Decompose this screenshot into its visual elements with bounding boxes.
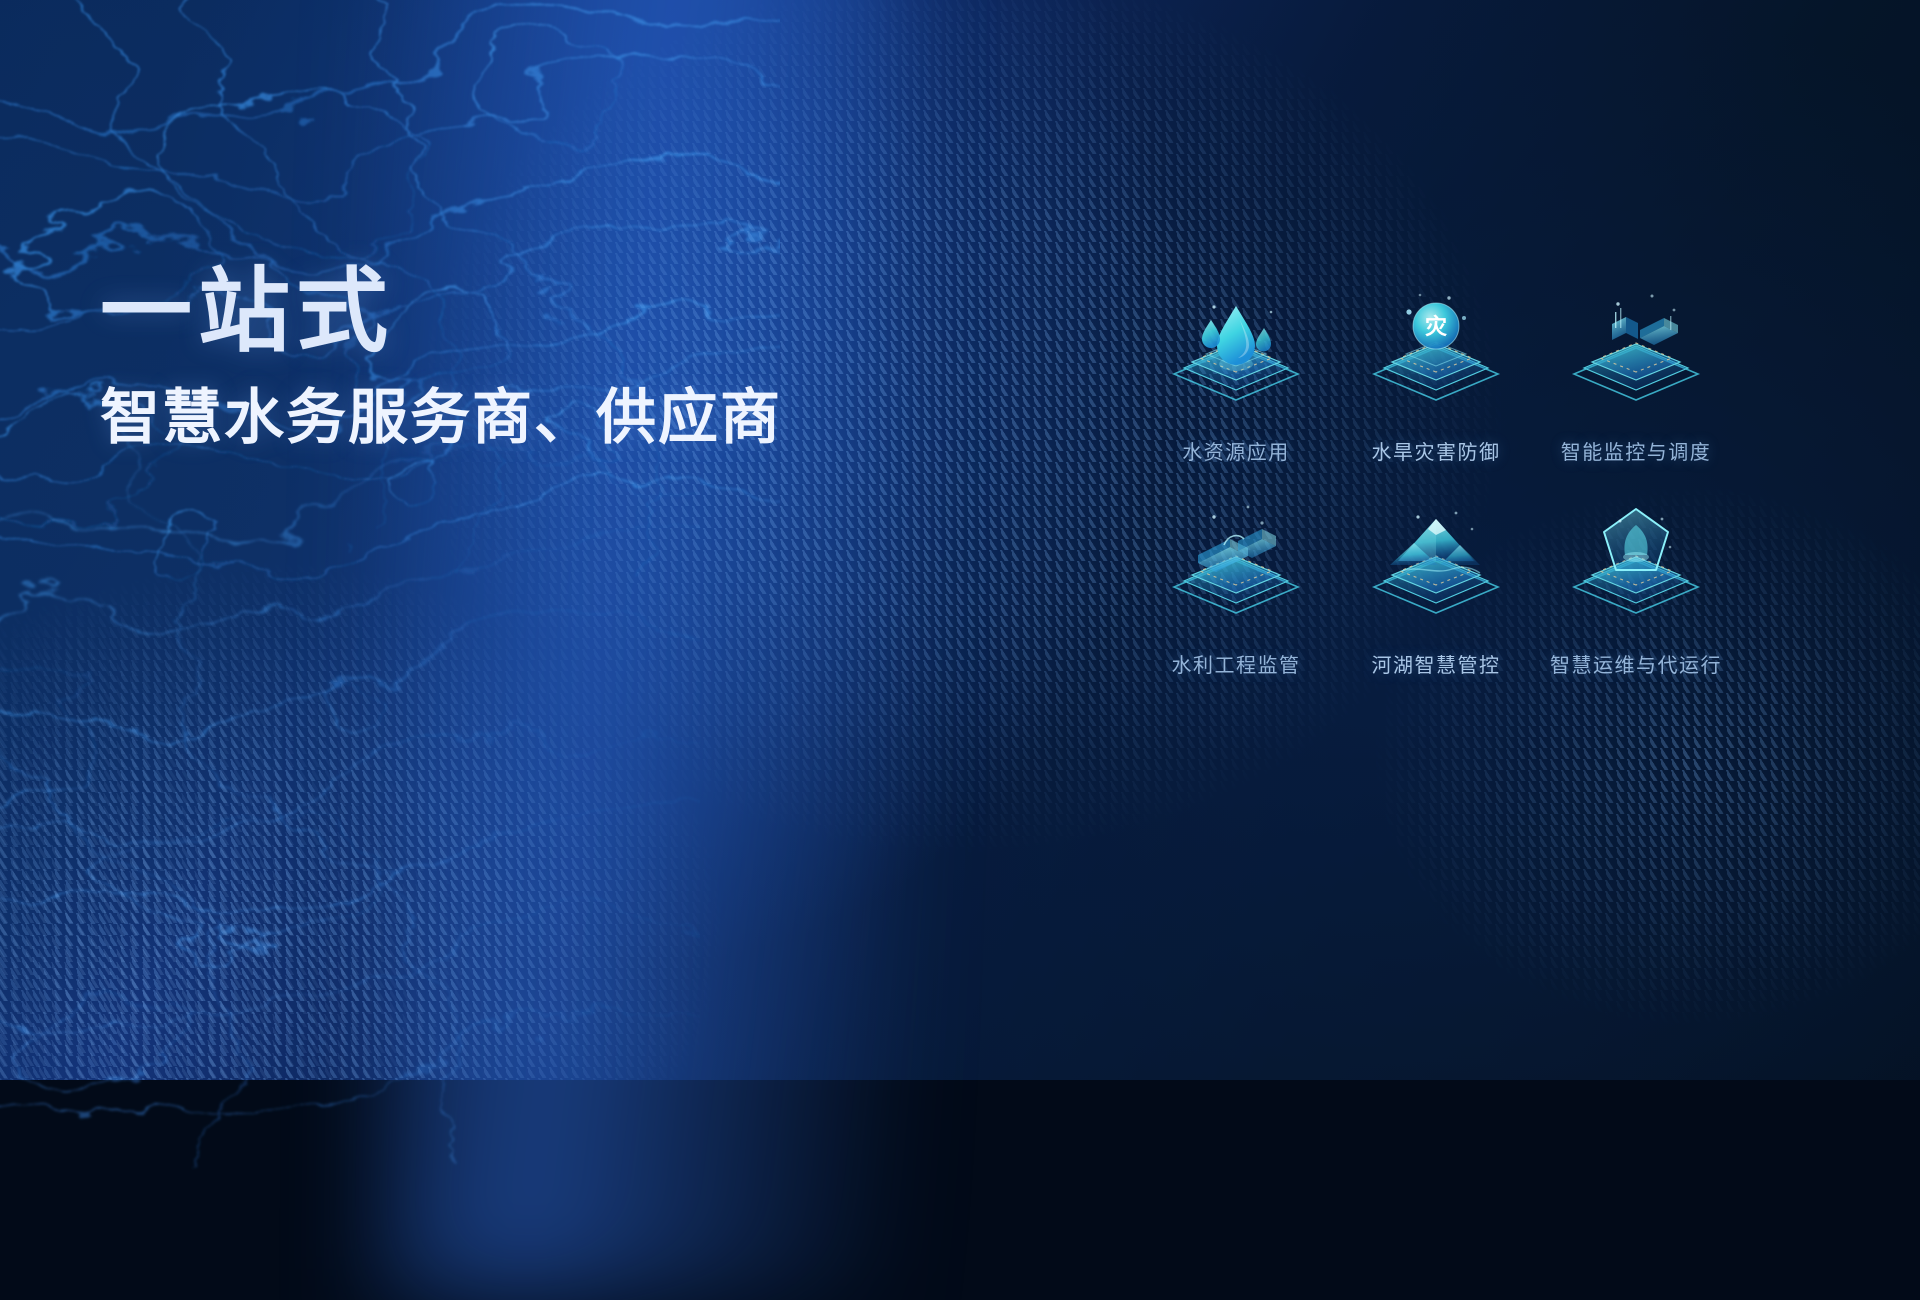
service-label: 智慧运维与代运行 — [1550, 649, 1722, 678]
banner-stage: 一站式 智慧水务服务商、供应商 — [0, 0, 1920, 1080]
water-drop-platform-icon — [1152, 282, 1320, 422]
service-card-flood-drought[interactable]: 灾 水旱灾害防御 — [1352, 282, 1520, 465]
water-ripple-texture-bottom — [0, 430, 700, 1190]
service-label: 水资源应用 — [1182, 436, 1290, 465]
page-title-primary: 一站式 — [100, 264, 920, 362]
disaster-badge-character: 灾 — [1425, 314, 1448, 339]
river-lake-terrain-icon — [1352, 495, 1520, 635]
hydro-engineering-icon — [1152, 495, 1320, 635]
disaster-sphere-icon: 灾 — [1352, 282, 1520, 422]
light-sweep — [380, 0, 900, 1300]
service-label: 水利工程监管 — [1172, 649, 1301, 678]
dam-monitoring-icon — [1552, 282, 1720, 422]
headline-block: 一站式 智慧水务服务商、供应商 — [100, 264, 920, 451]
service-card-hydro-engineering[interactable]: 水利工程监管 — [1152, 495, 1320, 678]
service-card-water-resource[interactable]: 水资源应用 — [1152, 282, 1320, 465]
service-label: 水旱灾害防御 — [1372, 436, 1501, 465]
service-card-smart-operations[interactable]: 智慧运维与代运行 — [1552, 495, 1720, 678]
service-label: 河湖智慧管控 — [1372, 649, 1501, 678]
page-title-secondary: 智慧水务服务商、供应商 — [100, 384, 920, 451]
service-icon-grid: 水资源应用 灾 — [1152, 282, 1720, 678]
service-card-river-lake[interactable]: 河湖智慧管控 — [1352, 495, 1520, 678]
service-label: 智能监控与调度 — [1561, 436, 1712, 465]
shield-operations-icon — [1552, 495, 1720, 635]
service-card-monitoring-dispatch[interactable]: 智能监控与调度 — [1552, 282, 1720, 465]
